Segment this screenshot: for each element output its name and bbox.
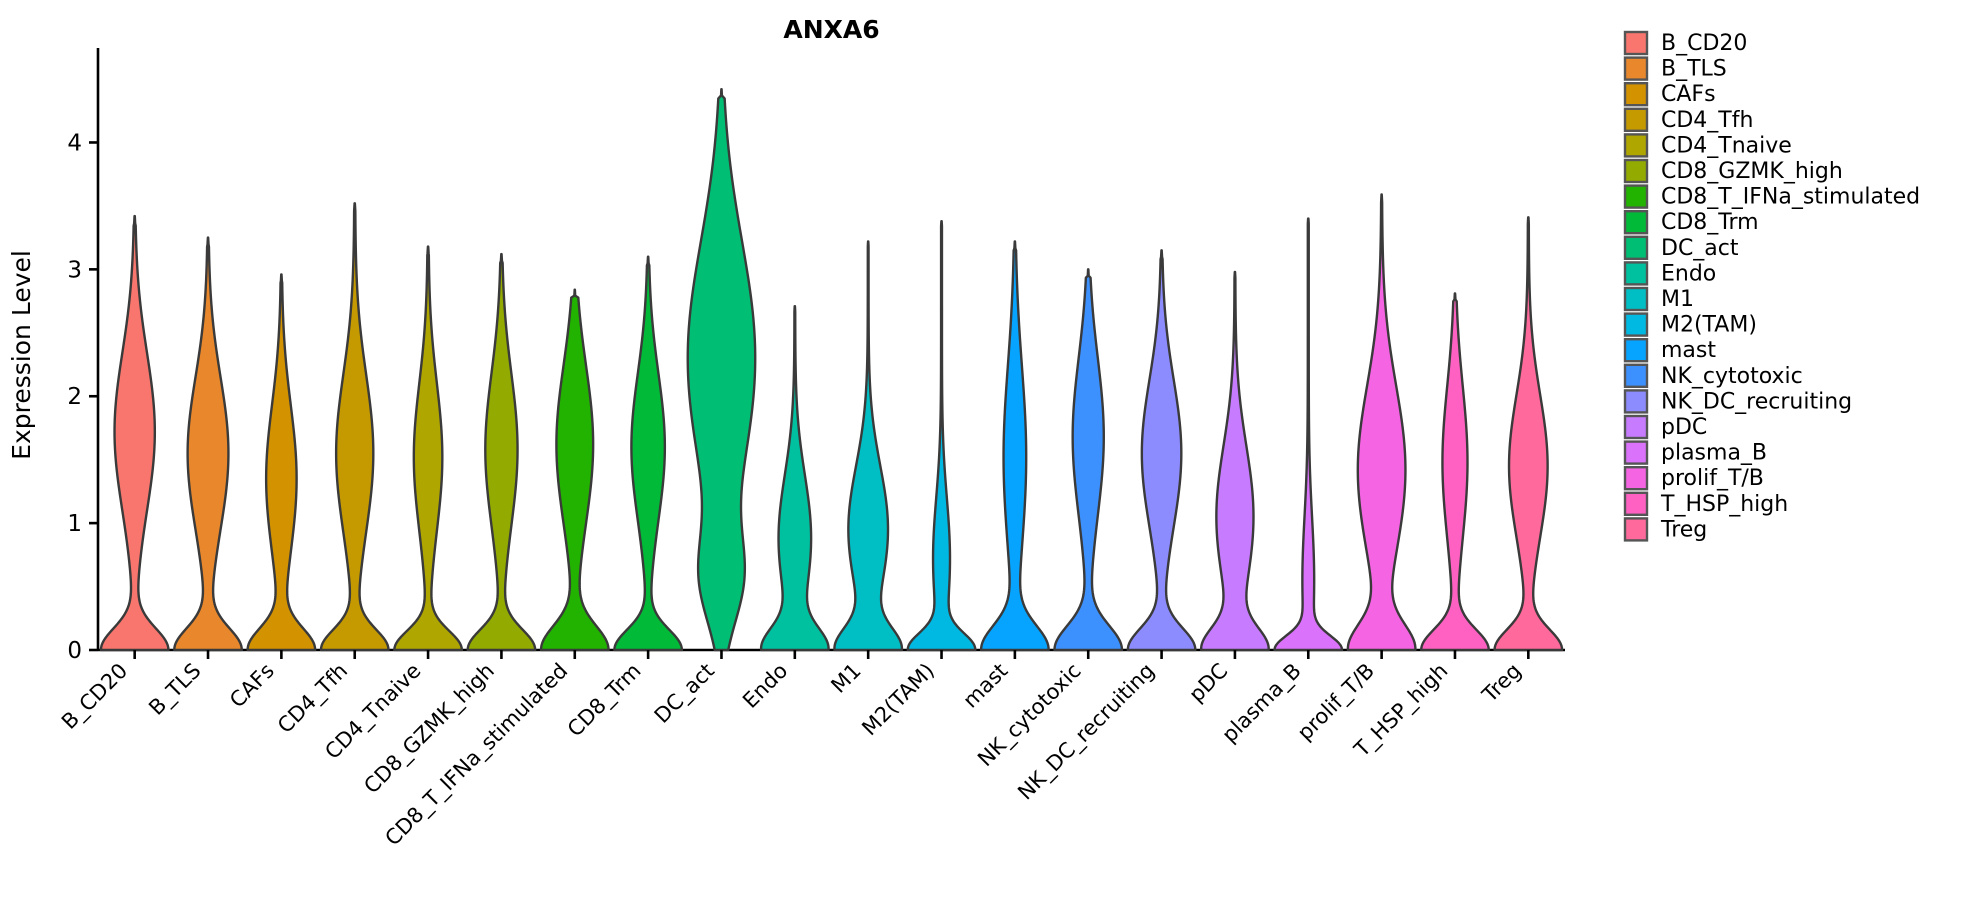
violin-CD8_Trm[interactable] — [614, 257, 681, 650]
x-tick-label-pDC: pDC — [1184, 659, 1232, 707]
x-tick-label-M1: M1 — [826, 659, 865, 698]
y-tick-label: 1 — [67, 511, 82, 537]
violin-M2(TAM)[interactable] — [908, 221, 975, 650]
legend-label-mast[interactable]: mast — [1661, 338, 1716, 363]
violin-prolif_T/B[interactable] — [1348, 194, 1415, 650]
violin-CD4_Tfh[interactable] — [321, 203, 388, 650]
legend-label-M1[interactable]: M1 — [1661, 287, 1694, 312]
x-tick-label-plasma_B: plasma_B — [1217, 659, 1306, 748]
legend-label-Treg[interactable]: Treg — [1660, 517, 1707, 542]
legend-swatch-NK_DC_recruiting[interactable] — [1625, 390, 1647, 412]
legend-swatch-M1[interactable] — [1625, 288, 1647, 310]
violin-NK_cytotoxic[interactable] — [1054, 269, 1121, 650]
legend-swatch-Treg[interactable] — [1625, 518, 1647, 540]
legend-swatch-B_CD20[interactable] — [1625, 32, 1647, 54]
chart-title: ANXA6 — [783, 15, 879, 44]
y-tick-label: 2 — [67, 384, 82, 410]
legend-swatch-Endo[interactable] — [1625, 262, 1647, 284]
x-tick-label-B_TLS: B_TLS — [144, 659, 206, 721]
x-tick-label-CD8_GZMK_high: CD8_GZMK_high — [359, 659, 499, 799]
legend-label-NK_cytotoxic[interactable]: NK_cytotoxic — [1661, 364, 1803, 389]
violin-DC_act[interactable] — [688, 89, 755, 650]
legend-label-M2(TAM)[interactable]: M2(TAM) — [1661, 313, 1757, 338]
legend-swatch-CD8_GZMK_high[interactable] — [1625, 160, 1647, 182]
legend-label-CD8_T_IFNa_stimulated[interactable]: CD8_T_IFNa_stimulated — [1661, 185, 1920, 210]
violin-Endo[interactable] — [761, 306, 828, 650]
legend-label-DC_act[interactable]: DC_act — [1661, 236, 1739, 261]
x-tick-label-Treg: Treg — [1477, 659, 1526, 708]
violin-mast[interactable] — [981, 241, 1048, 650]
violin-T_HSP_high[interactable] — [1421, 293, 1488, 650]
y-tick-label: 4 — [67, 130, 82, 156]
violin-CD8_T_IFNa_stimulated[interactable] — [541, 290, 608, 650]
legend-swatch-B_TLS[interactable] — [1625, 58, 1647, 80]
legend-swatch-mast[interactable] — [1625, 339, 1647, 361]
legend-swatch-CD4_Tfh[interactable] — [1625, 109, 1647, 131]
violin-pDC[interactable] — [1201, 272, 1268, 650]
violin-M1[interactable] — [834, 241, 901, 650]
legend-label-T_HSP_high[interactable]: T_HSP_high — [1660, 492, 1788, 517]
violin-B_CD20[interactable] — [101, 216, 168, 650]
legend-swatch-DC_act[interactable] — [1625, 237, 1647, 259]
legend-label-plasma_B[interactable]: plasma_B — [1661, 441, 1767, 466]
x-tick-label-M2(TAM): M2(TAM) — [857, 659, 939, 741]
violin-CD4_Tnaive[interactable] — [394, 247, 461, 650]
legend-swatch-prolif_T/B[interactable] — [1625, 467, 1647, 489]
legend-swatch-plasma_B[interactable] — [1625, 442, 1647, 464]
legend-swatch-pDC[interactable] — [1625, 416, 1647, 438]
legend-swatch-T_HSP_high[interactable] — [1625, 493, 1647, 515]
legend-label-CD4_Tfh[interactable]: CD4_Tfh — [1661, 108, 1753, 133]
x-tick-label-CD8_Trm: CD8_Trm — [563, 659, 647, 743]
violin-plot-figure: ANXA601234Expression LevelB_CD20B_TLSCAF… — [0, 0, 1965, 900]
legend-label-B_CD20[interactable]: B_CD20 — [1661, 31, 1747, 56]
violin-CAFs[interactable] — [248, 274, 315, 650]
legend-label-Endo[interactable]: Endo — [1661, 261, 1716, 286]
plot-canvas: ANXA601234Expression LevelB_CD20B_TLSCAF… — [0, 0, 1965, 900]
x-tick-label-CAFs: CAFs — [225, 659, 279, 713]
x-tick-label-mast: mast — [958, 659, 1012, 713]
violin-NK_DC_recruiting[interactable] — [1128, 250, 1195, 650]
legend-label-pDC[interactable]: pDC — [1661, 415, 1707, 440]
legend-label-CD8_Trm[interactable]: CD8_Trm — [1661, 210, 1759, 235]
legend-label-CAFs[interactable]: CAFs — [1661, 82, 1716, 107]
legend-swatch-CD8_T_IFNa_stimulated[interactable] — [1625, 186, 1647, 208]
violin-plasma_B[interactable] — [1275, 219, 1342, 650]
legend-label-CD4_Tnaive[interactable]: CD4_Tnaive — [1661, 133, 1792, 158]
legend-swatch-NK_cytotoxic[interactable] — [1625, 365, 1647, 387]
legend-label-B_TLS[interactable]: B_TLS — [1661, 57, 1727, 82]
x-tick-label-DC_act: DC_act — [650, 659, 720, 729]
violin-B_TLS[interactable] — [174, 238, 241, 650]
legend-label-CD8_GZMK_high[interactable]: CD8_GZMK_high — [1661, 159, 1843, 184]
violin-CD8_GZMK_high[interactable] — [468, 254, 535, 650]
y-tick-label: 0 — [67, 638, 82, 664]
legend-label-NK_DC_recruiting[interactable]: NK_DC_recruiting — [1661, 389, 1852, 414]
y-axis-label: Expression Level — [7, 250, 36, 460]
x-tick-label-Endo: Endo — [738, 659, 792, 713]
y-tick-label: 3 — [67, 257, 82, 283]
legend-swatch-CAFs[interactable] — [1625, 83, 1647, 105]
legend-label-prolif_T/B[interactable]: prolif_T/B — [1661, 466, 1764, 491]
legend-swatch-M2(TAM)[interactable] — [1625, 314, 1647, 336]
legend-swatch-CD8_Trm[interactable] — [1625, 211, 1647, 233]
legend-swatch-CD4_Tnaive[interactable] — [1625, 134, 1647, 156]
violin-Treg[interactable] — [1495, 217, 1562, 650]
x-tick-label-NK_DC_recruiting: NK_DC_recruiting — [1013, 659, 1160, 806]
x-tick-label-B_CD20: B_CD20 — [57, 659, 133, 735]
